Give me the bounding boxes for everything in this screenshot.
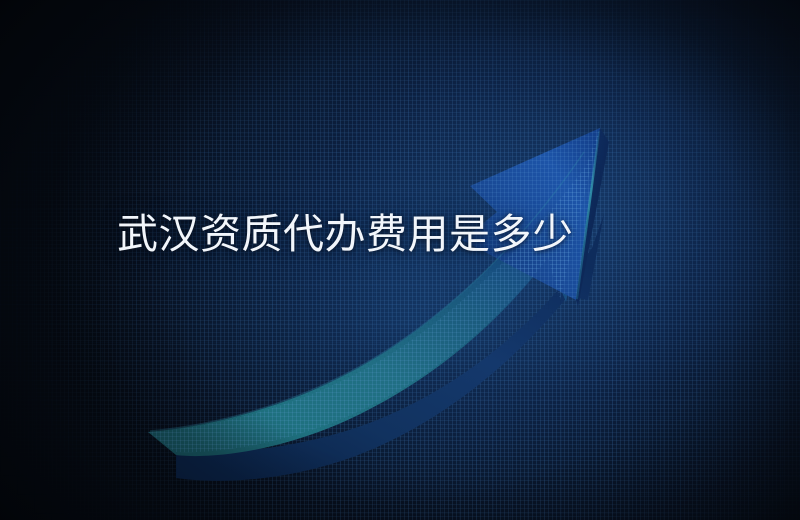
page-title: 武汉资质代办费用是多少: [117, 212, 574, 258]
banner-canvas: 武汉资质代办费用是多少: [0, 0, 800, 520]
background-vignette: [0, 0, 800, 520]
